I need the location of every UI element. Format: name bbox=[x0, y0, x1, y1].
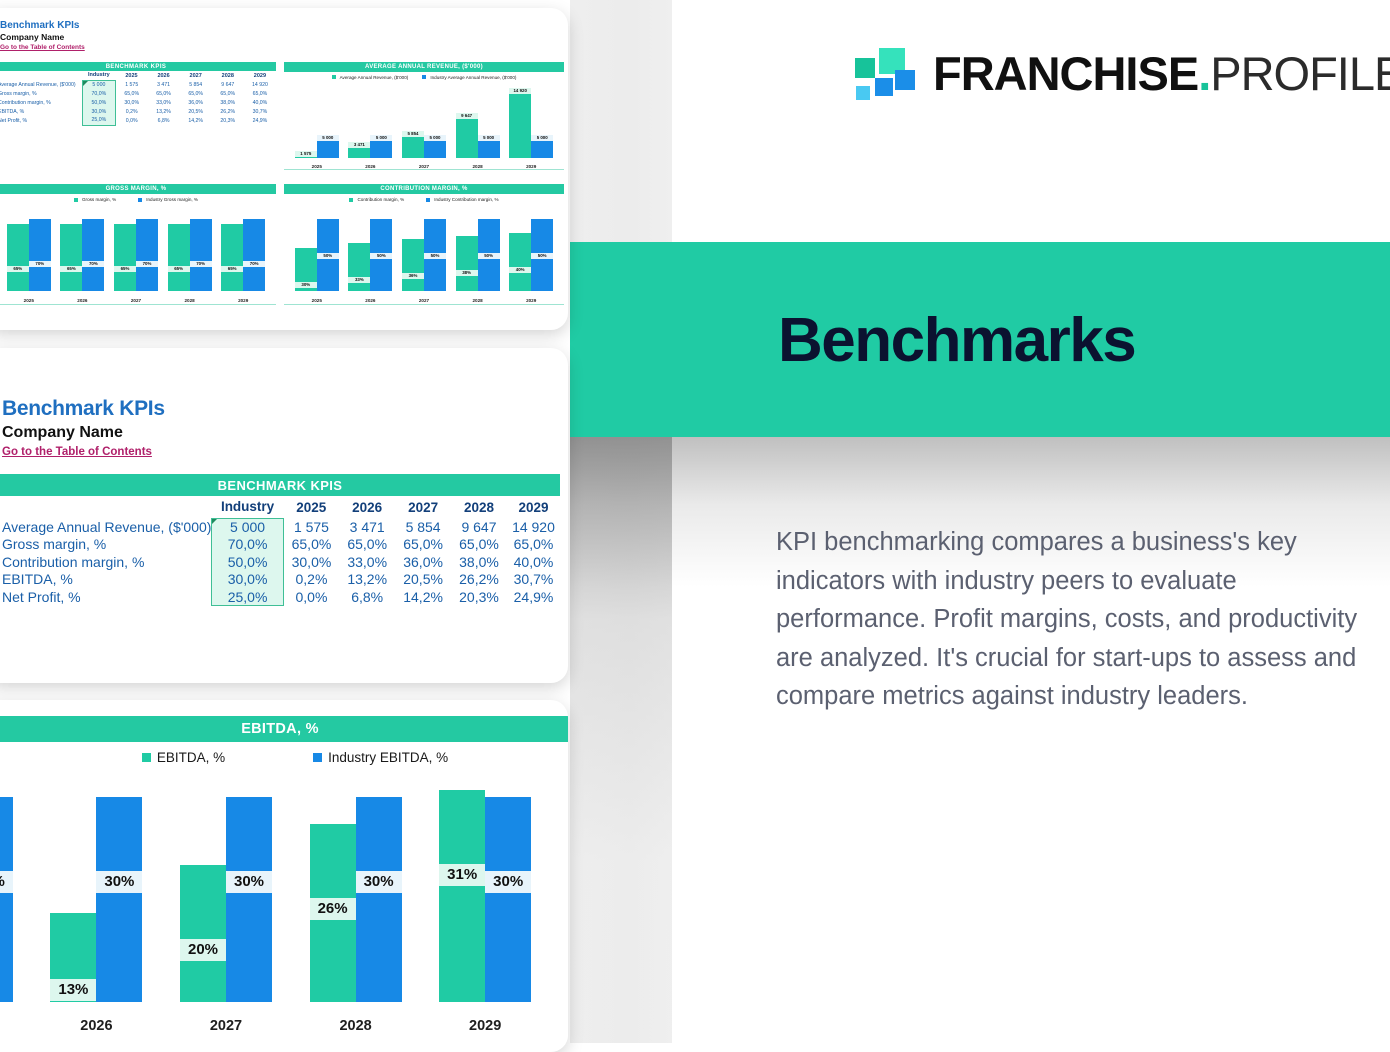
cell-2025: 0,0% bbox=[283, 588, 339, 606]
cell-2025: 0,2% bbox=[283, 571, 339, 589]
col-2027: 2027 bbox=[395, 496, 451, 518]
data-label: 5 000 bbox=[317, 135, 339, 141]
cell-2029: 65,0% bbox=[244, 89, 276, 98]
data-label: 65% bbox=[221, 266, 243, 272]
chart-ebitda: EBITDA, % EBITDA, % Industry EBITDA, % 0… bbox=[0, 716, 568, 1046]
cell-industry: 70,0% bbox=[212, 536, 283, 554]
chart-plot-area: 0%30%202513%30%202620%30%202726%30%20283… bbox=[0, 772, 568, 1042]
cell-2025: 0,2% bbox=[115, 107, 147, 116]
data-label: 30% bbox=[96, 871, 142, 893]
kpi-table-large: BENCHMARK KPIS Industry 2025 2026 2027 2… bbox=[0, 474, 560, 606]
chart-contribution-margin: CONTRIBUTION MARGIN, % Contribution marg… bbox=[284, 184, 564, 320]
data-label: 70% bbox=[136, 261, 158, 267]
bar-revenue-2028-company bbox=[456, 113, 478, 158]
cell-2028: 20,3% bbox=[451, 588, 507, 606]
table-row: Net Profit, %25,0%0,0%6,8%14,2%20,3%24,9… bbox=[0, 116, 276, 125]
cell-2026: 33,0% bbox=[339, 553, 395, 571]
data-label: 50% bbox=[531, 253, 553, 259]
data-label: 65% bbox=[168, 266, 190, 272]
table-row: Net Profit, %25,0%0,0%6,8%14,2%20,3%24,9… bbox=[0, 588, 560, 606]
cell-2025: 1 575 bbox=[283, 518, 339, 536]
background-gray-column bbox=[570, 0, 672, 1043]
cell-2025: 1 575 bbox=[115, 80, 147, 89]
bar-contribution-margin-2027-company bbox=[402, 239, 424, 291]
cell-2028: 38,0% bbox=[451, 553, 507, 571]
cell-2029: 14 920 bbox=[507, 518, 560, 536]
cell-2029: 40,0% bbox=[244, 98, 276, 107]
x-axis-label: 2028 bbox=[451, 298, 505, 303]
col-2029: 2029 bbox=[507, 496, 560, 518]
x-axis-label: 2025 bbox=[290, 298, 344, 303]
cell-2027: 65,0% bbox=[180, 89, 212, 98]
legend-item-series: Contribution margin, % bbox=[349, 197, 404, 202]
logo-word-dot: . bbox=[1198, 47, 1210, 100]
data-label: 38% bbox=[456, 270, 478, 276]
cell-2026: 3 471 bbox=[339, 518, 395, 536]
bar-ebitda-2027-company bbox=[180, 865, 226, 1002]
row-label: Net Profit, % bbox=[0, 588, 212, 606]
chart-legend: Average Annual Revenue, ($'000) Industry… bbox=[284, 72, 564, 82]
x-axis-label: 2027 bbox=[397, 298, 451, 303]
bar-gross-margin-2028-company bbox=[168, 224, 190, 291]
logo-word-bold: FRANCHISE bbox=[933, 47, 1198, 100]
data-label: 70% bbox=[82, 261, 104, 267]
bar-ebitda-2025-industry bbox=[0, 797, 13, 1002]
cell-2027: 5 854 bbox=[395, 518, 451, 536]
data-label: 3 471 bbox=[348, 142, 370, 148]
bar-ebitda-2029-company bbox=[439, 790, 485, 1002]
data-label: 70% bbox=[243, 261, 265, 267]
cell-industry: 25,0% bbox=[212, 588, 283, 606]
bar-contribution-margin-2026-company bbox=[348, 243, 370, 291]
kpi-table-body: Average Annual Revenue, ($'000)5 0001 57… bbox=[0, 80, 276, 125]
background-white-panel bbox=[672, 0, 1390, 1043]
page-title: Benchmarks bbox=[778, 305, 1135, 376]
section-description: KPI benchmarking compares a business's k… bbox=[776, 523, 1362, 716]
bar-ebitda-2029-industry bbox=[485, 797, 531, 1002]
x-axis-label: 2027 bbox=[161, 1018, 291, 1034]
cell-2028: 9 647 bbox=[451, 518, 507, 536]
legend-item-series: EBITDA, % bbox=[142, 750, 225, 765]
cell-2026: 13,2% bbox=[148, 107, 180, 116]
cell-2026: 6,8% bbox=[339, 588, 395, 606]
cell-2029: 14 920 bbox=[244, 80, 276, 89]
bar-gross-margin-2025-company bbox=[7, 224, 29, 291]
table-header-row: Industry 2025 2026 2027 2028 2029 bbox=[0, 496, 560, 518]
row-label: Gross margin, % bbox=[0, 89, 82, 98]
bar-ebitda-2027-industry bbox=[226, 797, 272, 1002]
table-row: Average Annual Revenue, ($'000)5 0001 57… bbox=[0, 80, 276, 89]
slide-card-dashboard[interactable]: Benchmark KPIs Company Name Go to the Ta… bbox=[0, 8, 568, 330]
cell-industry: 30,0% bbox=[212, 571, 283, 589]
table-of-contents-link[interactable]: Go to the Table of Contents bbox=[2, 444, 165, 460]
chart-average-annual-revenue: AVERAGE ANNUAL REVENUE, ($'000) Average … bbox=[284, 62, 564, 184]
cell-industry: 70,0% bbox=[82, 89, 115, 98]
data-label: 30% bbox=[0, 871, 13, 893]
logo-word-light: PROFILES bbox=[1210, 47, 1390, 100]
cell-2027: 20,5% bbox=[180, 107, 212, 116]
cell-2028: 38,0% bbox=[212, 98, 244, 107]
chart-title: EBITDA, % bbox=[0, 716, 568, 742]
bar-gross-margin-2025-industry bbox=[29, 219, 51, 291]
cell-2027: 65,0% bbox=[395, 536, 451, 554]
col-industry: Industry bbox=[212, 496, 283, 518]
table-row: Contribution margin, %50,0%30,0%33,0%36,… bbox=[0, 553, 560, 571]
kpi-table-body: Average Annual Revenue, ($'000)5 0001 57… bbox=[0, 518, 560, 606]
cell-2027: 36,0% bbox=[395, 553, 451, 571]
cell-2026: 3 471 bbox=[148, 80, 180, 89]
data-label: 50% bbox=[478, 253, 500, 259]
table-row: Contribution margin, %50,0%30,0%33,0%36,… bbox=[0, 98, 276, 107]
col-industry: Industry bbox=[82, 71, 115, 80]
data-label: 65% bbox=[60, 266, 82, 272]
data-label: 30% bbox=[226, 871, 272, 893]
cell-2026: 6,8% bbox=[148, 116, 180, 125]
cell-2027: 5 854 bbox=[180, 80, 212, 89]
cell-2029: 24,9% bbox=[244, 116, 276, 125]
cell-industry: 25,0% bbox=[82, 116, 115, 125]
x-axis-label: 2026 bbox=[344, 298, 398, 303]
data-label: 5 000 bbox=[478, 135, 500, 141]
chart-legend: Contribution margin, % Industry Contribu… bbox=[284, 194, 564, 205]
data-label: 5 854 bbox=[402, 131, 424, 137]
data-label: 70% bbox=[29, 261, 51, 267]
cell-2029: 30,7% bbox=[244, 107, 276, 116]
data-label: 65% bbox=[114, 266, 136, 272]
bar-gross-margin-2029-industry bbox=[243, 219, 265, 291]
cell-2026: 13,2% bbox=[339, 571, 395, 589]
x-axis-line bbox=[0, 304, 276, 305]
data-label: 33% bbox=[348, 277, 370, 283]
x-axis-line bbox=[284, 169, 564, 170]
data-label: 30% bbox=[356, 871, 402, 893]
cell-2029: 40,0% bbox=[507, 553, 560, 571]
cell-2026: 65,0% bbox=[339, 536, 395, 554]
chart-gross-margin: GROSS MARGIN, % Gross margin, % Industry… bbox=[0, 184, 276, 320]
kpi-table-mini: BENCHMARK KPIS Industry 2025 2026 2027 2… bbox=[0, 62, 276, 126]
cell-2027: 14,2% bbox=[180, 116, 212, 125]
data-label: 36% bbox=[402, 273, 424, 279]
chart-plot-area: 65%70%202565%70%202665%70%202765%70%2028… bbox=[0, 205, 276, 305]
cell-2029: 30,7% bbox=[507, 571, 560, 589]
x-axis-label: 2028 bbox=[163, 298, 217, 303]
kpi-table-banner: BENCHMARK KPIS bbox=[0, 62, 276, 71]
cell-industry: 50,0% bbox=[82, 98, 115, 107]
cell-2027: 20,5% bbox=[395, 571, 451, 589]
x-axis-line bbox=[284, 304, 564, 305]
cell-2027: 14,2% bbox=[395, 588, 451, 606]
chart-legend: Gross margin, % Industry Gross margin, % bbox=[0, 194, 276, 205]
cell-industry: 5 000 bbox=[82, 80, 115, 89]
col-2028: 2028 bbox=[212, 71, 244, 80]
x-axis-label: 2026 bbox=[32, 1018, 162, 1034]
slide-card-ebitda-chart[interactable]: EBITDA, % EBITDA, % Industry EBITDA, % 0… bbox=[0, 700, 568, 1052]
x-axis-label: 2028 bbox=[291, 1018, 421, 1034]
bar-contribution-margin-2029-company bbox=[509, 233, 531, 291]
cell-2025: 65,0% bbox=[115, 89, 147, 98]
cell-2028: 20,3% bbox=[212, 116, 244, 125]
data-label: 14 920 bbox=[509, 88, 531, 94]
data-label: 20% bbox=[180, 939, 226, 961]
row-label: Contribution margin, % bbox=[0, 553, 212, 571]
bar-gross-margin-2027-company bbox=[114, 224, 136, 291]
data-label: 5 000 bbox=[424, 135, 446, 141]
data-label: 5 000 bbox=[531, 135, 553, 141]
col-2025: 2025 bbox=[283, 496, 339, 518]
row-label: EBITDA, % bbox=[0, 107, 82, 116]
legend-item-series: Gross margin, % bbox=[74, 197, 116, 202]
cell-industry: 5 000 bbox=[212, 518, 283, 536]
data-label: 50% bbox=[370, 253, 392, 259]
bar-gross-margin-2029-company bbox=[221, 224, 243, 291]
bar-gross-margin-2026-company bbox=[60, 224, 82, 291]
col-2029: 2029 bbox=[244, 71, 276, 80]
chart-title: CONTRIBUTION MARGIN, % bbox=[284, 184, 564, 194]
data-label: 1 575 bbox=[295, 151, 317, 157]
cell-2025: 30,0% bbox=[115, 98, 147, 107]
cell-2026: 33,0% bbox=[148, 98, 180, 107]
cell-2028: 26,2% bbox=[451, 571, 507, 589]
cell-2026: 65,0% bbox=[148, 89, 180, 98]
chart-plot-area: 30%50%202533%50%202636%50%202738%50%2028… bbox=[284, 205, 564, 305]
brand-logo: FRANCHISE.PROFILES bbox=[853, 42, 1390, 104]
cell-2028: 65,0% bbox=[212, 89, 244, 98]
cell-2029: 65,0% bbox=[507, 536, 560, 554]
legend-item-industry: Industry Gross margin, % bbox=[138, 197, 198, 202]
cell-2028: 26,2% bbox=[212, 107, 244, 116]
row-label: Gross margin, % bbox=[0, 536, 212, 554]
kpi-table-banner: BENCHMARK KPIS bbox=[0, 474, 560, 496]
col-2025: 2025 bbox=[115, 71, 147, 80]
sheet-subtitle: Company Name bbox=[0, 32, 85, 43]
bar-ebitda-2028-industry bbox=[356, 797, 402, 1002]
x-axis-label: 2025 bbox=[0, 1018, 32, 1034]
sheet-title: Benchmark KPIs bbox=[2, 396, 165, 422]
legend-item-industry: Industry Contribution margin, % bbox=[426, 197, 498, 202]
col-2026: 2026 bbox=[339, 496, 395, 518]
x-axis-label: 2029 bbox=[504, 298, 558, 303]
table-header-row: Industry 2025 2026 2027 2028 2029 bbox=[0, 71, 276, 80]
cell-2028: 9 647 bbox=[212, 80, 244, 89]
data-label: 50% bbox=[424, 253, 446, 259]
bar-gross-margin-2027-industry bbox=[136, 219, 158, 291]
row-label: Average Annual Revenue, ($'000) bbox=[0, 518, 212, 536]
legend-item-series: Average Annual Revenue, ($'000) bbox=[332, 75, 409, 80]
sheet-title: Benchmark KPIs bbox=[0, 20, 85, 32]
bar-contribution-margin-2028-company bbox=[456, 236, 478, 291]
cell-2025: 0,0% bbox=[115, 116, 147, 125]
bar-gross-margin-2026-industry bbox=[82, 219, 104, 291]
col-2028: 2028 bbox=[451, 496, 507, 518]
data-label: 30% bbox=[295, 282, 317, 288]
table-of-contents-link[interactable]: Go to the Table of Contents bbox=[0, 43, 85, 52]
chart-plot-area: 1 5755 00020253 4715 00020265 8545 00020… bbox=[284, 82, 564, 170]
x-axis-label: 2029 bbox=[216, 298, 270, 303]
cell-2027: 36,0% bbox=[180, 98, 212, 107]
x-axis-label: 2025 bbox=[2, 298, 56, 303]
cell-2029: 24,9% bbox=[507, 588, 560, 606]
data-label: 13% bbox=[50, 979, 96, 1001]
logo-squares-icon bbox=[853, 42, 915, 104]
bar-revenue-2029-company bbox=[509, 88, 531, 158]
data-label: 31% bbox=[439, 864, 485, 886]
row-label: Average Annual Revenue, ($'000) bbox=[0, 80, 82, 89]
chart-legend: EBITDA, % Industry EBITDA, % bbox=[0, 742, 568, 772]
bar-ebitda-2026-industry bbox=[96, 797, 142, 1002]
cell-2025: 30,0% bbox=[283, 553, 339, 571]
bar-gross-margin-2028-industry bbox=[190, 219, 212, 291]
slide-card-kpi-table[interactable]: Benchmark KPIs Company Name Go to the Ta… bbox=[0, 348, 568, 683]
data-label: 65% bbox=[7, 266, 29, 272]
x-axis-label: 2029 bbox=[420, 1018, 550, 1034]
chart-title: GROSS MARGIN, % bbox=[0, 184, 276, 194]
data-label: 30% bbox=[485, 871, 531, 893]
table-row: Average Annual Revenue, ($'000)5 0001 57… bbox=[0, 518, 560, 536]
table-row: Gross margin, %70,0%65,0%65,0%65,0%65,0%… bbox=[0, 536, 560, 554]
row-label: Net Profit, % bbox=[0, 116, 82, 125]
data-label: 70% bbox=[190, 261, 212, 267]
cell-industry: 30,0% bbox=[82, 107, 115, 116]
x-axis-label: 2027 bbox=[109, 298, 163, 303]
logo-wordmark: FRANCHISE.PROFILES bbox=[933, 50, 1390, 97]
cell-industry: 50,0% bbox=[212, 553, 283, 571]
data-label: 40% bbox=[509, 267, 531, 273]
table-row: EBITDA, %30,0%0,2%13,2%20,5%26,2%30,7% bbox=[0, 107, 276, 116]
cell-2028: 65,0% bbox=[451, 536, 507, 554]
cell-2025: 65,0% bbox=[283, 536, 339, 554]
table-row: EBITDA, %30,0%0,2%13,2%20,5%26,2%30,7% bbox=[0, 571, 560, 589]
data-label: 26% bbox=[310, 898, 356, 920]
row-label: Contribution margin, % bbox=[0, 98, 82, 107]
sheet-subtitle: Company Name bbox=[2, 422, 165, 444]
x-axis-label: 2026 bbox=[56, 298, 110, 303]
col-2027: 2027 bbox=[180, 71, 212, 80]
table-row: Gross margin, %70,0%65,0%65,0%65,0%65,0%… bbox=[0, 89, 276, 98]
legend-item-industry: Industry Average Annual Revenue, ($'000) bbox=[422, 75, 516, 80]
data-label: 9 647 bbox=[456, 113, 478, 119]
data-label: 50% bbox=[317, 253, 339, 259]
chart-title: AVERAGE ANNUAL REVENUE, ($'000) bbox=[284, 62, 564, 72]
data-label: 5 000 bbox=[370, 135, 392, 141]
legend-item-industry: Industry EBITDA, % bbox=[313, 750, 448, 765]
row-label: EBITDA, % bbox=[0, 571, 212, 589]
col-2026: 2026 bbox=[148, 71, 180, 80]
